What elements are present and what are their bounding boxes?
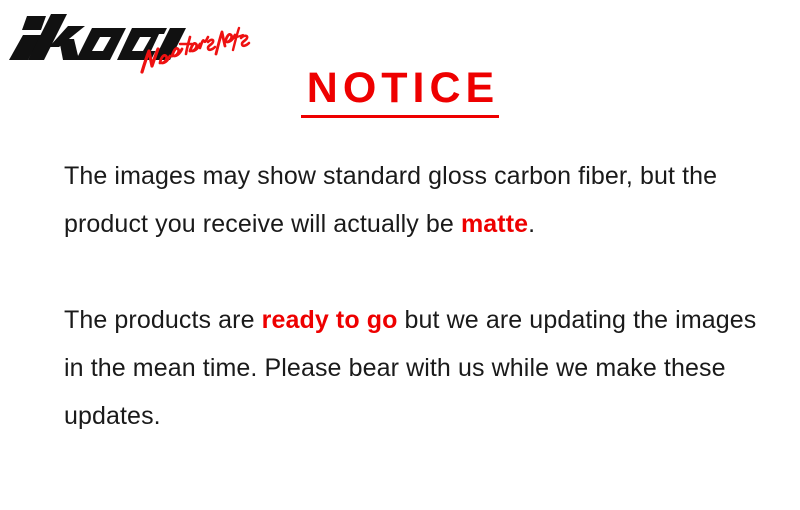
notice-heading-container: NOTICE: [0, 64, 800, 118]
emphasis-text: ready to go: [262, 306, 398, 334]
ikon-wordmark-shapes: [9, 14, 186, 60]
notice-heading: NOTICE: [301, 64, 499, 118]
notice-page: ikon Motorsports NOTICE The images may s…: [0, 0, 800, 510]
emphasis-text: matte: [461, 210, 528, 238]
body-text-run: The products are: [64, 306, 262, 334]
notice-paragraph-finish-disclaimer: The images may show standard gloss carbo…: [64, 152, 764, 248]
notice-paragraph-availability-notice: The products are ready to go but we are …: [64, 296, 764, 440]
body-text-run: .: [528, 210, 535, 238]
notice-body: The images may show standard gloss carbo…: [64, 152, 764, 440]
body-text-run: The images may show standard gloss carbo…: [64, 162, 717, 238]
